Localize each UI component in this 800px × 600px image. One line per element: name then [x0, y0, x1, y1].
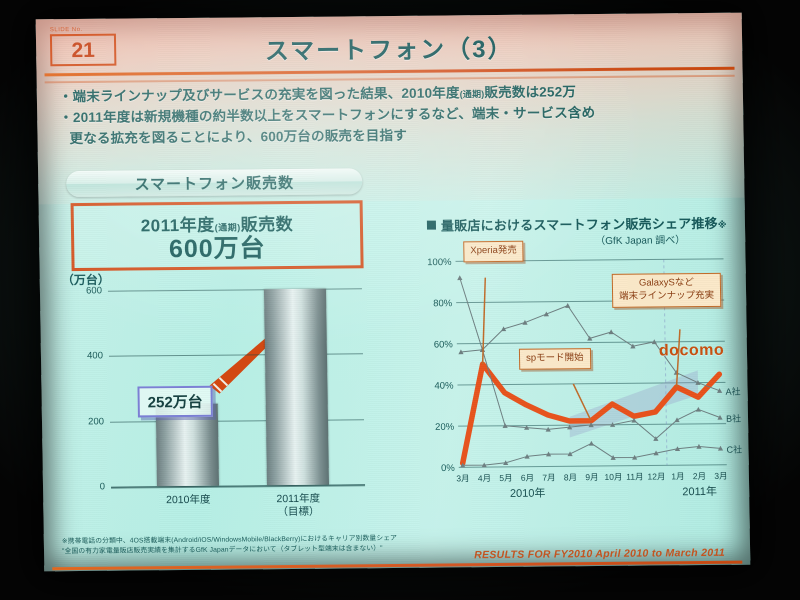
- callout-galaxy-line2: 端末ラインナップ充実: [619, 290, 714, 304]
- line-chart-marker: [609, 329, 614, 334]
- bullet-marker: ・: [59, 110, 73, 125]
- line-chart-label-b: B社: [726, 411, 741, 424]
- bullet-text-tail: 販売数は252万: [484, 84, 576, 100]
- square-bullet-icon: [427, 221, 436, 230]
- bar-chart: 02004006002010年度2011年度（目標）252万台: [58, 284, 374, 519]
- line-chart-label-docomo: docomo: [659, 342, 724, 361]
- line-chart-x-tick-label: 7月: [542, 472, 555, 482]
- line-chart-x-tick-label: 10月: [604, 472, 622, 482]
- bar-chart-y-tick-label: 600: [86, 285, 102, 296]
- line-chart-marker: [696, 407, 701, 412]
- line-chart-y-tick-label: 0%: [441, 463, 455, 474]
- line-chart-x-tick-label: 4月: [478, 473, 491, 483]
- line-chart-y-tick-label: 100%: [427, 257, 452, 268]
- bullet-text: 端末ラインナップ及びサービスの充実を図った結果、2010年度: [72, 85, 459, 104]
- callout-galaxy-line1: GalaxySなど: [619, 277, 714, 291]
- highlight-line-2: 600万台: [74, 234, 360, 263]
- projected-slide-photo: SLIDE No. 21 スマートフォン（3） ・端末ラインナップ及びサービスの…: [0, 0, 800, 600]
- line-chart-y-tick-label: 80%: [433, 298, 453, 309]
- line-chart-marker: [674, 417, 679, 422]
- highlight-year: 2011年度: [141, 216, 215, 236]
- line-chart-x-tick-label: 6月: [521, 473, 534, 483]
- callout-spmode: spモード開始: [519, 348, 591, 369]
- bar-chart-y-tick-label: 200: [88, 416, 104, 427]
- callout-galaxy: GalaxySなど端末ラインナップ充実: [612, 273, 722, 308]
- line-chart-series-C社: [462, 442, 720, 465]
- presentation-slide: SLIDE No. 21 スマートフォン（3） ・端末ラインナップ及びサービスの…: [36, 13, 751, 572]
- bullet-text: 2011年度は新規機種の約半数以上をスマートフォンにするなど、端末・サービス含め: [73, 105, 596, 125]
- highlight-line-1: 2011年度(通期)販売数: [74, 209, 360, 237]
- slide-footer: RESULTS FOR FY2010 April 2010 to March 2…: [474, 547, 725, 561]
- bar-chart-y-tick-label: 0: [100, 481, 105, 492]
- line-chart-x-tick-label: 12月: [647, 471, 665, 481]
- line-chart-x-group-label: 2011年: [682, 484, 717, 498]
- bullet-text-small: (通期): [460, 89, 485, 99]
- bar-chart-x-tick-label: 2010年度: [133, 493, 243, 507]
- highlight-period: (通期): [215, 222, 241, 232]
- line-chart-y-tick-label: 40%: [434, 381, 454, 392]
- bar-chart-data-label-252: 252万台: [137, 386, 213, 418]
- footnotes: ※携帯電話の分類中、4OS搭載端末(Android/iOS/WindowsMob…: [62, 533, 482, 557]
- line-chart-marker: [457, 275, 462, 280]
- line-chart-marker: [589, 441, 594, 446]
- highlight-metric: 販売数: [240, 215, 293, 235]
- bar-chart-axis: [111, 484, 365, 488]
- line-chart-x-tick-label: 11月: [626, 472, 643, 482]
- highlight-box-target: 2011年度(通期)販売数 600万台: [71, 200, 364, 271]
- line-chart-gridline: [459, 465, 727, 468]
- callout-xperia: Xperia発売: [463, 241, 524, 262]
- line-chart-x-tick-label: 3月: [714, 471, 727, 481]
- bar-chart-bar: [264, 289, 329, 486]
- page-title: スマートフォン（3）: [36, 27, 743, 69]
- line-chart: 0%20%40%60%80%100%3月4月5月6月7月8月9月10月11月12…: [425, 247, 750, 516]
- line-chart-trend-wedge: [569, 370, 699, 437]
- right-chart-heading-note: ※: [718, 220, 727, 230]
- line-chart-x-tick-label: 8月: [564, 472, 577, 482]
- line-chart-x-tick-label: 1月: [671, 471, 684, 481]
- section-pill-label: スマートフォン販売数: [134, 171, 294, 194]
- bullet-list: ・端末ラインナップ及びサービスの充実を図った結果、2010年度(通期)販売数は2…: [59, 81, 720, 150]
- section-pill-sales-volume: スマートフォン販売数: [66, 168, 362, 197]
- line-chart-x-tick-label: 5月: [499, 473, 512, 483]
- line-chart-x-tick-label: 3月: [456, 473, 469, 483]
- line-chart-x-tick-label: 2月: [693, 471, 706, 481]
- bar-chart-x-tick-label: 2011年度（目標）: [243, 492, 353, 519]
- line-chart-marker: [565, 303, 570, 308]
- line-chart-label-a: A社: [725, 384, 740, 397]
- bullet-marker: ・: [59, 89, 73, 104]
- bar-chart-y-tick-label: 400: [87, 351, 103, 362]
- line-chart-y-tick-label: 60%: [434, 339, 454, 350]
- line-chart-label-c: C社: [726, 442, 742, 455]
- line-chart-x-tick-label: 9月: [585, 472, 598, 482]
- line-chart-y-tick-label: 20%: [435, 422, 455, 433]
- right-chart-subheading: （GfK Japan 調べ）: [595, 231, 685, 247]
- line-chart-x-group-label: 2010年: [510, 486, 546, 500]
